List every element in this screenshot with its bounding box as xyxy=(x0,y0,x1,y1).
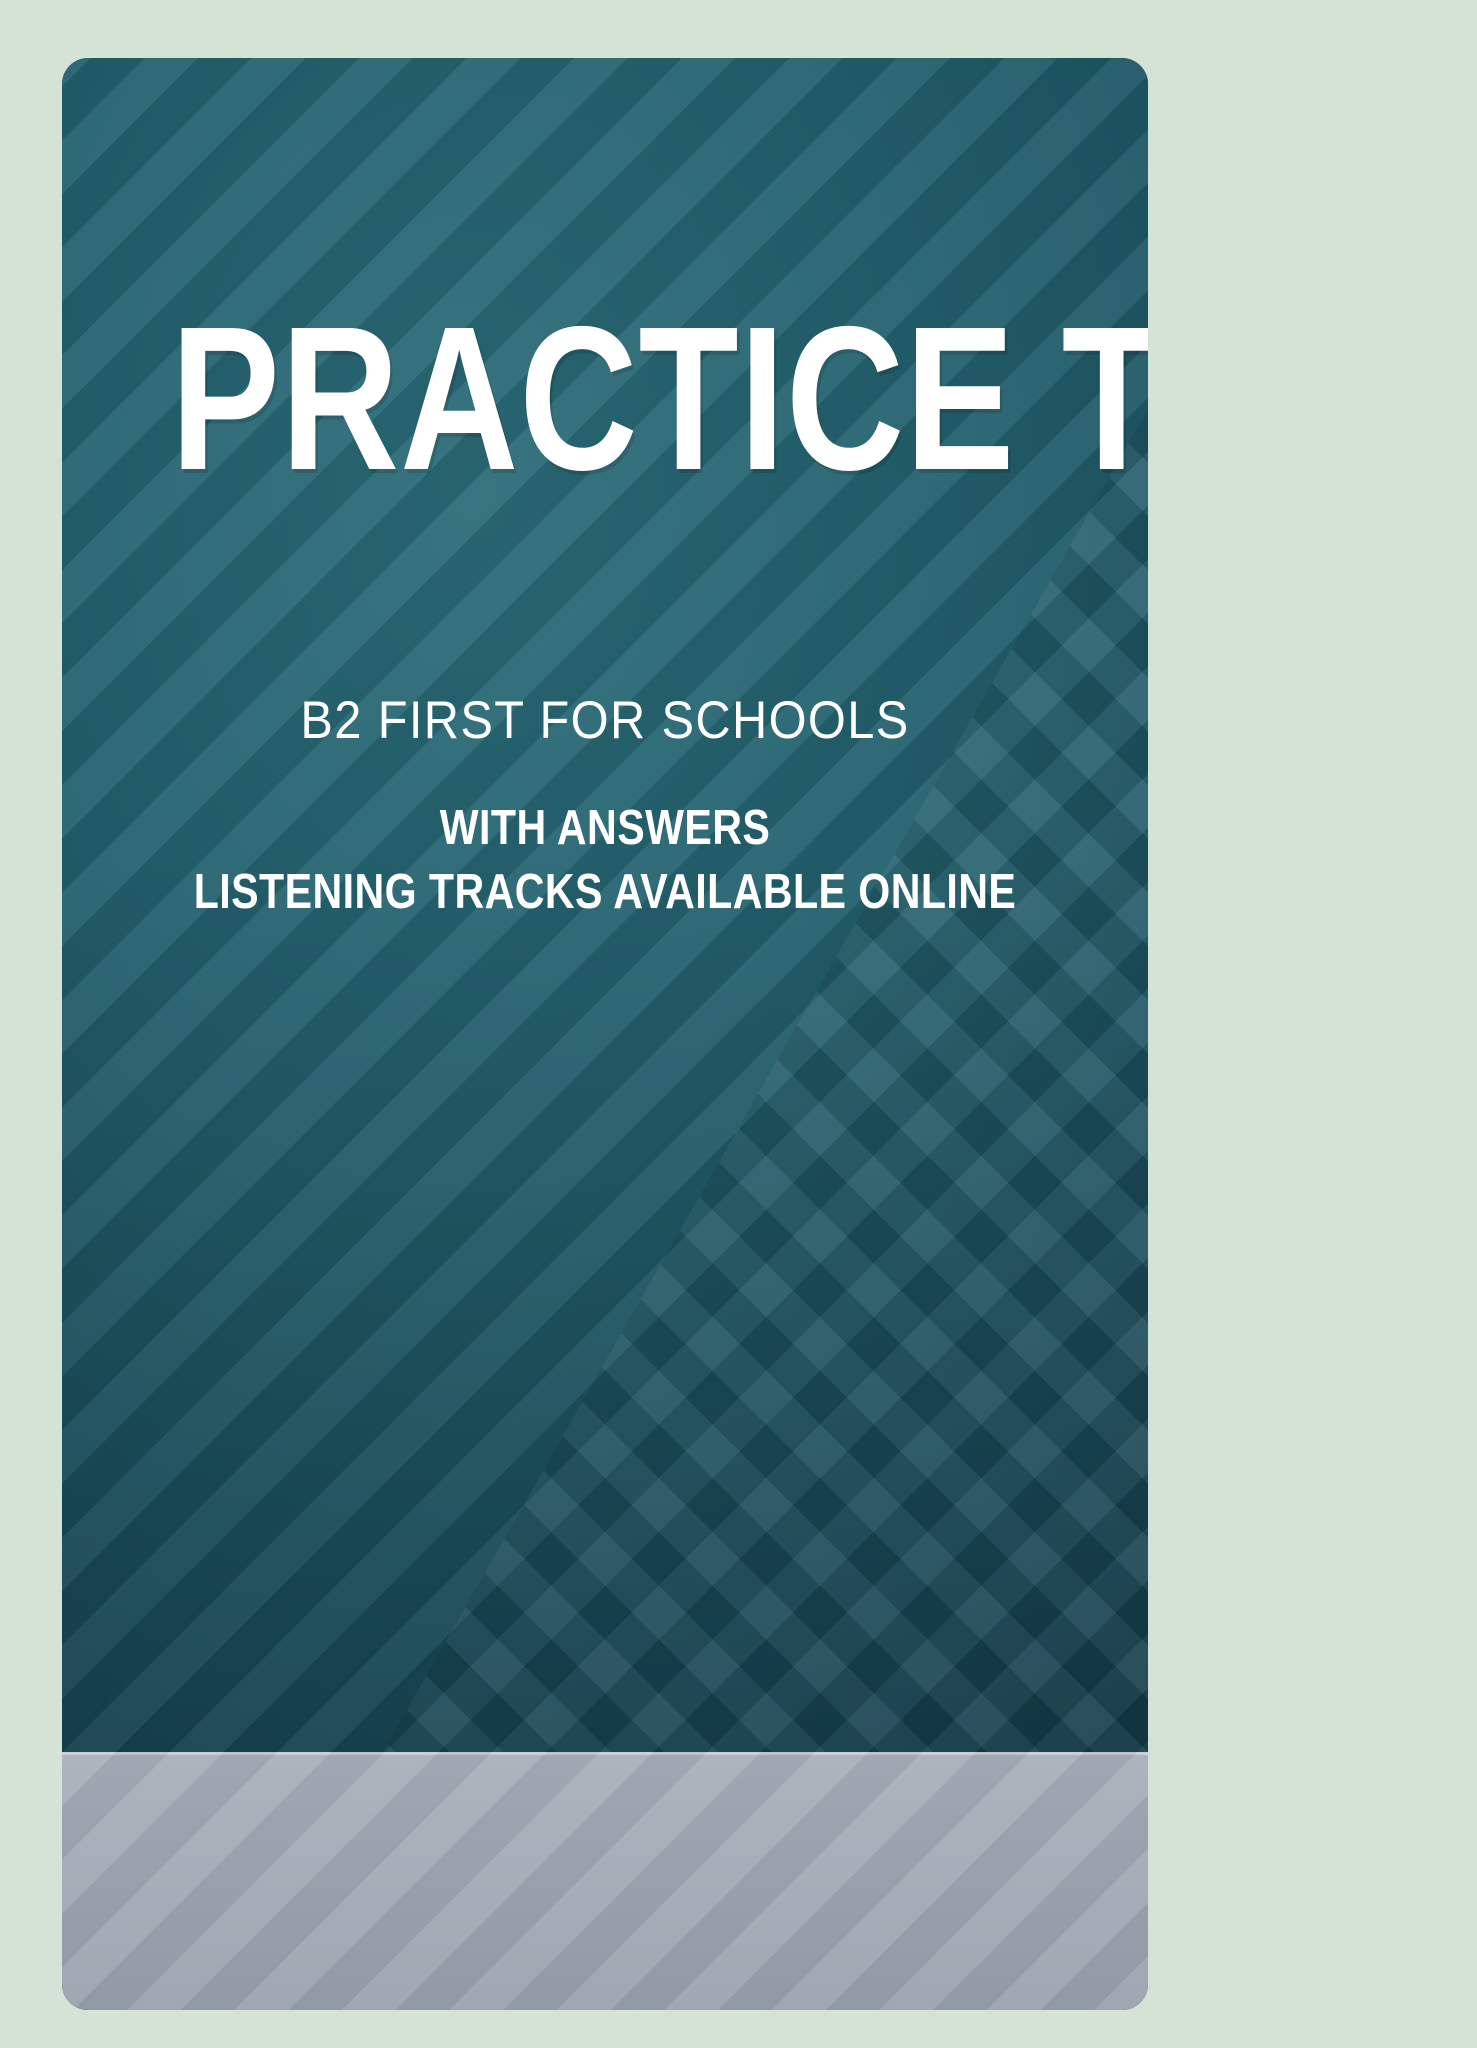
exam-level-block: B2 FIRST FOR SCHOOLS xyxy=(62,690,1148,751)
with-answers-text: WITH ANSWERS xyxy=(149,800,1061,856)
answers-block: WITH ANSWERS LISTENING TRACKS AVAILABLE … xyxy=(62,800,1148,920)
footer-band: planet EDUCATIONAL SERVICES xyxy=(62,1752,1148,2010)
footer-stripe-pattern xyxy=(62,1752,1148,2010)
listening-tracks-text: LISTENING TRACKS AVAILABLE ONLINE xyxy=(149,864,1061,920)
book-cover: PRACTICE TESTS B2 FIRST FOR SCHOOLS WITH… xyxy=(62,58,1148,2010)
title-block: PRACTICE TESTS xyxy=(62,304,1148,495)
page-title: PRACTICE TESTS xyxy=(171,304,1040,495)
exam-level-text: B2 FIRST FOR SCHOOLS xyxy=(105,690,1104,751)
